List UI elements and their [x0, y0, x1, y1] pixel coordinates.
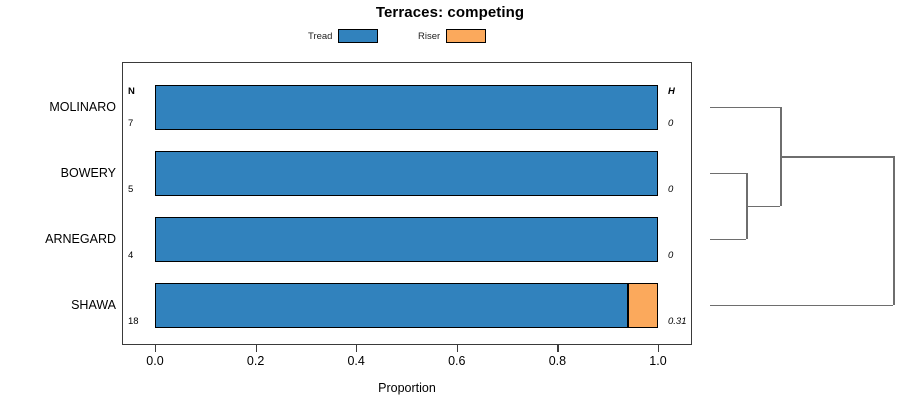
- dendrogram-merge-3-vertical: [893, 156, 895, 305]
- y-axis-label: ARNEGARD: [6, 232, 116, 246]
- x-axis-tick: [658, 345, 659, 352]
- x-axis-title: Proportion: [122, 381, 692, 395]
- x-axis-tick-label: 0.0: [130, 354, 180, 368]
- x-axis-tick: [557, 345, 558, 352]
- legend-entry-tread[interactable]: Tread: [308, 27, 378, 45]
- x-axis-tick: [356, 345, 357, 352]
- column-header-h: H: [668, 86, 675, 97]
- x-axis: 0.00.20.40.60.81.0: [0, 345, 900, 385]
- x-axis-tick-label: 0.6: [432, 354, 482, 368]
- chart-figure: Terraces: competing Tread Riser MOLINARO…: [0, 0, 900, 420]
- n-value: 7: [128, 118, 133, 129]
- n-value: 5: [128, 184, 133, 195]
- dendrogram-leaf-molinaro: [710, 107, 780, 109]
- legend-label-tread: Tread: [308, 31, 332, 42]
- bar-segment-tread[interactable]: [155, 217, 658, 262]
- n-value: 18: [128, 316, 139, 327]
- dendrogram-merge-2-branch: [780, 156, 893, 158]
- legend-label-riser: Riser: [418, 31, 440, 42]
- dendrogram-merge-1-branch: [746, 206, 780, 208]
- y-axis-label: BOWERY: [6, 166, 116, 180]
- y-axis-label: MOLINARO: [6, 100, 116, 114]
- bar-segment-tread[interactable]: [155, 85, 658, 130]
- x-axis-tick-label: 0.2: [231, 354, 281, 368]
- h-value: 0: [668, 184, 673, 195]
- page-title: Terraces: competing: [0, 4, 900, 21]
- dendrogram-leaf-shawa: [710, 305, 893, 307]
- dendrogram-leaf-arnegard: [710, 239, 746, 241]
- bar-segment-tread[interactable]: [155, 151, 658, 196]
- h-value: 0: [668, 250, 673, 261]
- dendrogram: [700, 62, 900, 345]
- column-header-n: N: [128, 86, 135, 97]
- x-axis-tick-label: 0.8: [532, 354, 582, 368]
- n-value: 4: [128, 250, 133, 261]
- x-axis-tick-label: 0.4: [331, 354, 381, 368]
- chart-legend: Tread Riser: [0, 27, 900, 45]
- legend-entry-riser[interactable]: Riser: [418, 27, 486, 45]
- legend-swatch-riser: [446, 29, 486, 43]
- x-axis-tick: [155, 345, 156, 352]
- h-value: 0.31: [668, 316, 687, 327]
- bar-segment-riser[interactable]: [628, 283, 658, 328]
- legend-swatch-tread: [338, 29, 378, 43]
- x-axis-tick-label: 1.0: [633, 354, 683, 368]
- dendrogram-leaf-bowery: [710, 173, 746, 175]
- y-axis-label: SHAWA: [6, 298, 116, 312]
- x-axis-tick: [457, 345, 458, 352]
- x-axis-tick: [256, 345, 257, 352]
- bar-segment-tread[interactable]: [155, 283, 628, 328]
- h-value: 0: [668, 118, 673, 129]
